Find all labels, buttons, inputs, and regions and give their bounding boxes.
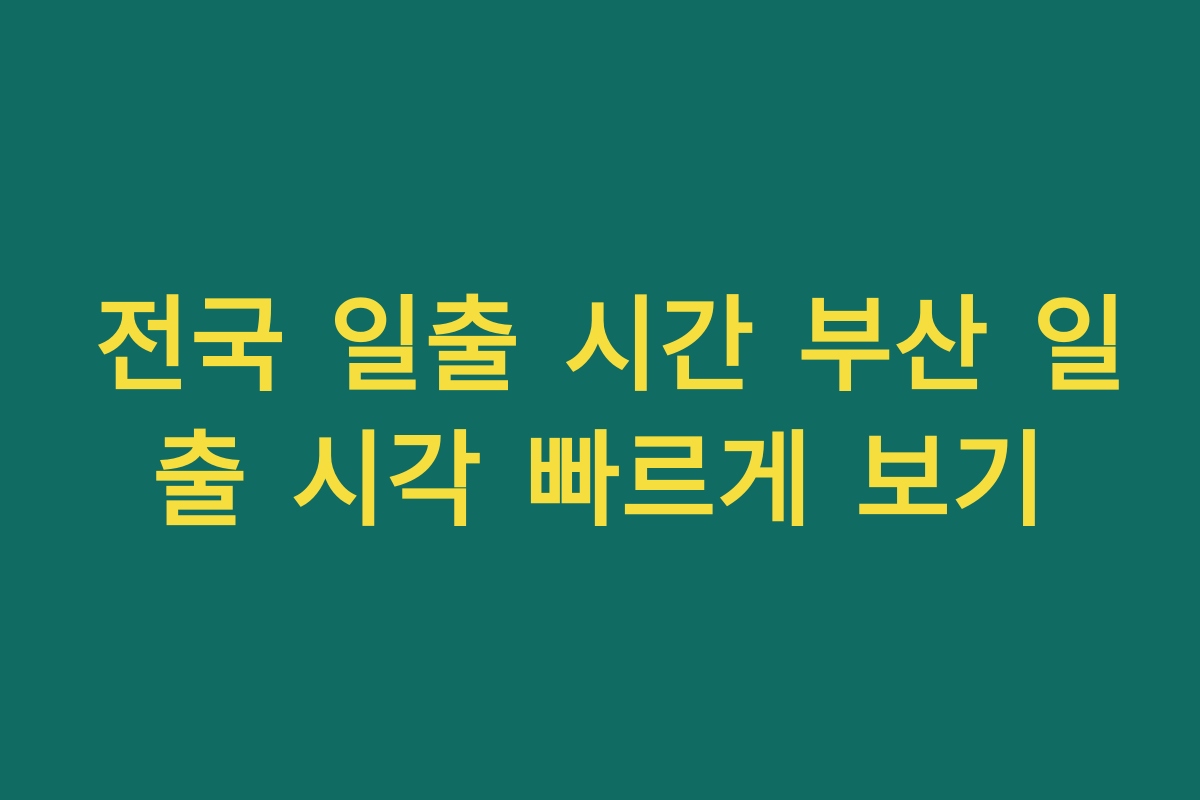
headline-line-1: 전국 일출 시간 부산 일 <box>95 279 1105 414</box>
page-title: 전국 일출 시간 부산 일 출 시각 빠르게 보기 <box>95 279 1105 549</box>
banner-background: 전국 일출 시간 부산 일 출 시각 빠르게 보기 <box>0 0 1200 800</box>
headline-line-2: 출 시각 빠르게 보기 <box>95 414 1105 549</box>
